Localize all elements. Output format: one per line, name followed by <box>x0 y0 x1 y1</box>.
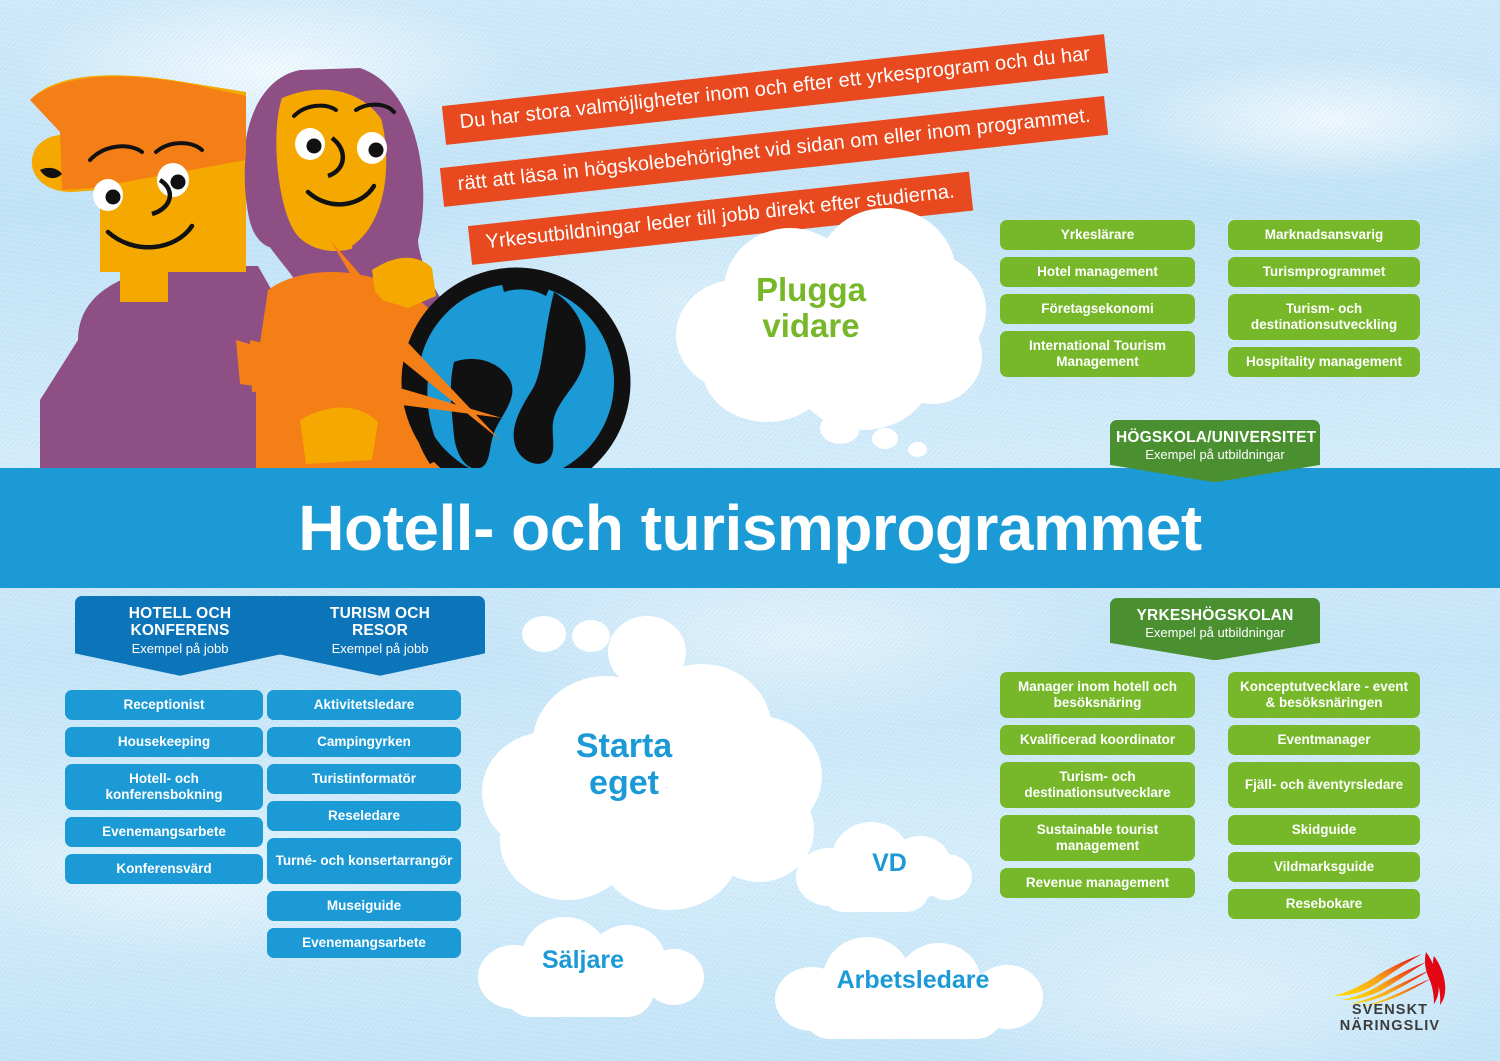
hogskola-item[interactable]: Turismprogrammet <box>1228 257 1420 287</box>
thought-bubble <box>872 428 898 449</box>
hogskola-item[interactable]: Hospitality management <box>1228 347 1420 377</box>
hogskola-item[interactable]: International Tourism Management <box>1000 331 1195 377</box>
poster-canvas: Du har stora valmöjligheter inom och eft… <box>0 0 1500 1061</box>
hotell-konferens-item[interactable]: Housekeeping <box>65 727 263 757</box>
logo-wordmark: SVENSKT NÄRINGSLIV <box>1300 1002 1480 1034</box>
section-subtitle: Exempel på utbildningar <box>1116 625 1314 640</box>
cloud-label: Säljare <box>470 947 696 975</box>
section-subtitle: Exempel på jobb <box>81 641 279 656</box>
hogskola-item[interactable]: Yrkeslärare <box>1000 220 1195 250</box>
cloud-lobe <box>608 616 686 688</box>
yrkeshogskolan-item[interactable]: Fjäll- och äventyrsledare <box>1228 762 1420 808</box>
thought-bubble <box>522 616 566 652</box>
thought-bubble <box>820 412 860 444</box>
cloud-label: Startaeget <box>454 728 794 803</box>
title-band: Hotell- och turismprogrammet <box>0 468 1500 588</box>
hogskola-item[interactable]: Hotel management <box>1000 257 1195 287</box>
yrkeshogskolan-item[interactable]: Revenue management <box>1000 868 1195 898</box>
turism-resor-item[interactable]: Evenemangsarbete <box>267 928 461 958</box>
turism-resor-item[interactable]: Museiguide <box>267 891 461 921</box>
hotell-konferens-item[interactable]: Konferensvärd <box>65 854 263 884</box>
turism-resor-item[interactable]: Aktivitetsledare <box>267 690 461 720</box>
yrkeshogskolan-item[interactable]: Sustainable tourist management <box>1000 815 1195 861</box>
page-title: Hotell- och turismprogrammet <box>298 491 1201 565</box>
yrkeshogskolan-item[interactable]: Skidguide <box>1228 815 1420 845</box>
hogskola-left-column: YrkeslärareHotel managementFöretagsekono… <box>1000 220 1195 377</box>
cloud-label: VD <box>802 850 977 878</box>
yrkeshogskolan-right-column: Konceptutvecklare - event & besöksnäring… <box>1228 672 1420 919</box>
yrkeshogskolan-item[interactable]: Eventmanager <box>1228 725 1420 755</box>
thought-bubble <box>572 620 610 652</box>
yrkeshogskolan-item[interactable]: Turism- och destinationsutvecklare <box>1000 762 1195 808</box>
yrkeshogskolan-left-column: Manager inom hotell och besöksnäringKval… <box>1000 672 1195 898</box>
starta-eget-cloud: Startaeget <box>482 660 822 910</box>
yrkeshogskolan-item[interactable]: Resebokare <box>1228 889 1420 919</box>
hotell-konferens-item[interactable]: Evenemangsarbete <box>65 817 263 847</box>
hogskola-item[interactable]: Företagsekonomi <box>1000 294 1195 324</box>
turism-resor-item[interactable]: Campingyrken <box>267 727 461 757</box>
hogskola-item[interactable]: Turism- och destinationsutveckling <box>1228 294 1420 340</box>
vd-cloud: VD <box>796 820 971 912</box>
cloud-label: Pluggavidare <box>656 272 966 345</box>
section-title: YRKESHÖGSKOLAN <box>1116 607 1314 624</box>
turism-resor-item[interactable]: Reseledare <box>267 801 461 831</box>
hotell-konferens-item[interactable]: Receptionist <box>65 690 263 720</box>
turism-resor-column: AktivitetsledareCampingyrkenTuristinform… <box>267 690 461 958</box>
plugga-vidare-cloud: Pluggavidare <box>676 208 986 438</box>
thought-bubble <box>908 442 927 457</box>
saljare-cloud: Säljare <box>478 915 704 1017</box>
svenskt-naringsliv-logo: SVENSKT NÄRINGSLIV <box>1300 950 1480 1040</box>
yrkeshogskolan-item[interactable]: Manager inom hotell och besöksnäring <box>1000 672 1195 718</box>
yrkeshogskolan-item[interactable]: Konceptutvecklare - event & besöksnäring… <box>1228 672 1420 718</box>
section-subtitle: Exempel på jobb <box>281 641 479 656</box>
turism-resor-item[interactable]: Turistinformatör <box>267 764 461 794</box>
yrkeshogskolan-item[interactable]: Vildmarksguide <box>1228 852 1420 882</box>
hotell-konferens-column: ReceptionistHousekeepingHotell- och konf… <box>65 690 263 884</box>
hogskola-right-column: MarknadsansvarigTurismprogrammetTurism- … <box>1228 220 1420 377</box>
section-title: TURISM OCHRESOR <box>281 605 479 640</box>
arbetsledare-cloud: Arbetsledare <box>775 935 1043 1039</box>
section-title: HÖGSKOLA/UNIVERSITET <box>1116 429 1314 446</box>
hotell-konferens-item[interactable]: Hotell- och konferensbokning <box>65 764 263 810</box>
section-subtitle: Exempel på utbildningar <box>1116 447 1314 462</box>
turism-resor-item[interactable]: Turné- och konsertarrangör <box>267 838 461 884</box>
yrkeshogskolan-item[interactable]: Kvalificerad koordinator <box>1000 725 1195 755</box>
hogskola-item[interactable]: Marknadsansvarig <box>1228 220 1420 250</box>
cloud-label: Arbetsledare <box>779 967 1047 995</box>
section-title: HOTELL OCHKONFERENS <box>81 605 279 640</box>
